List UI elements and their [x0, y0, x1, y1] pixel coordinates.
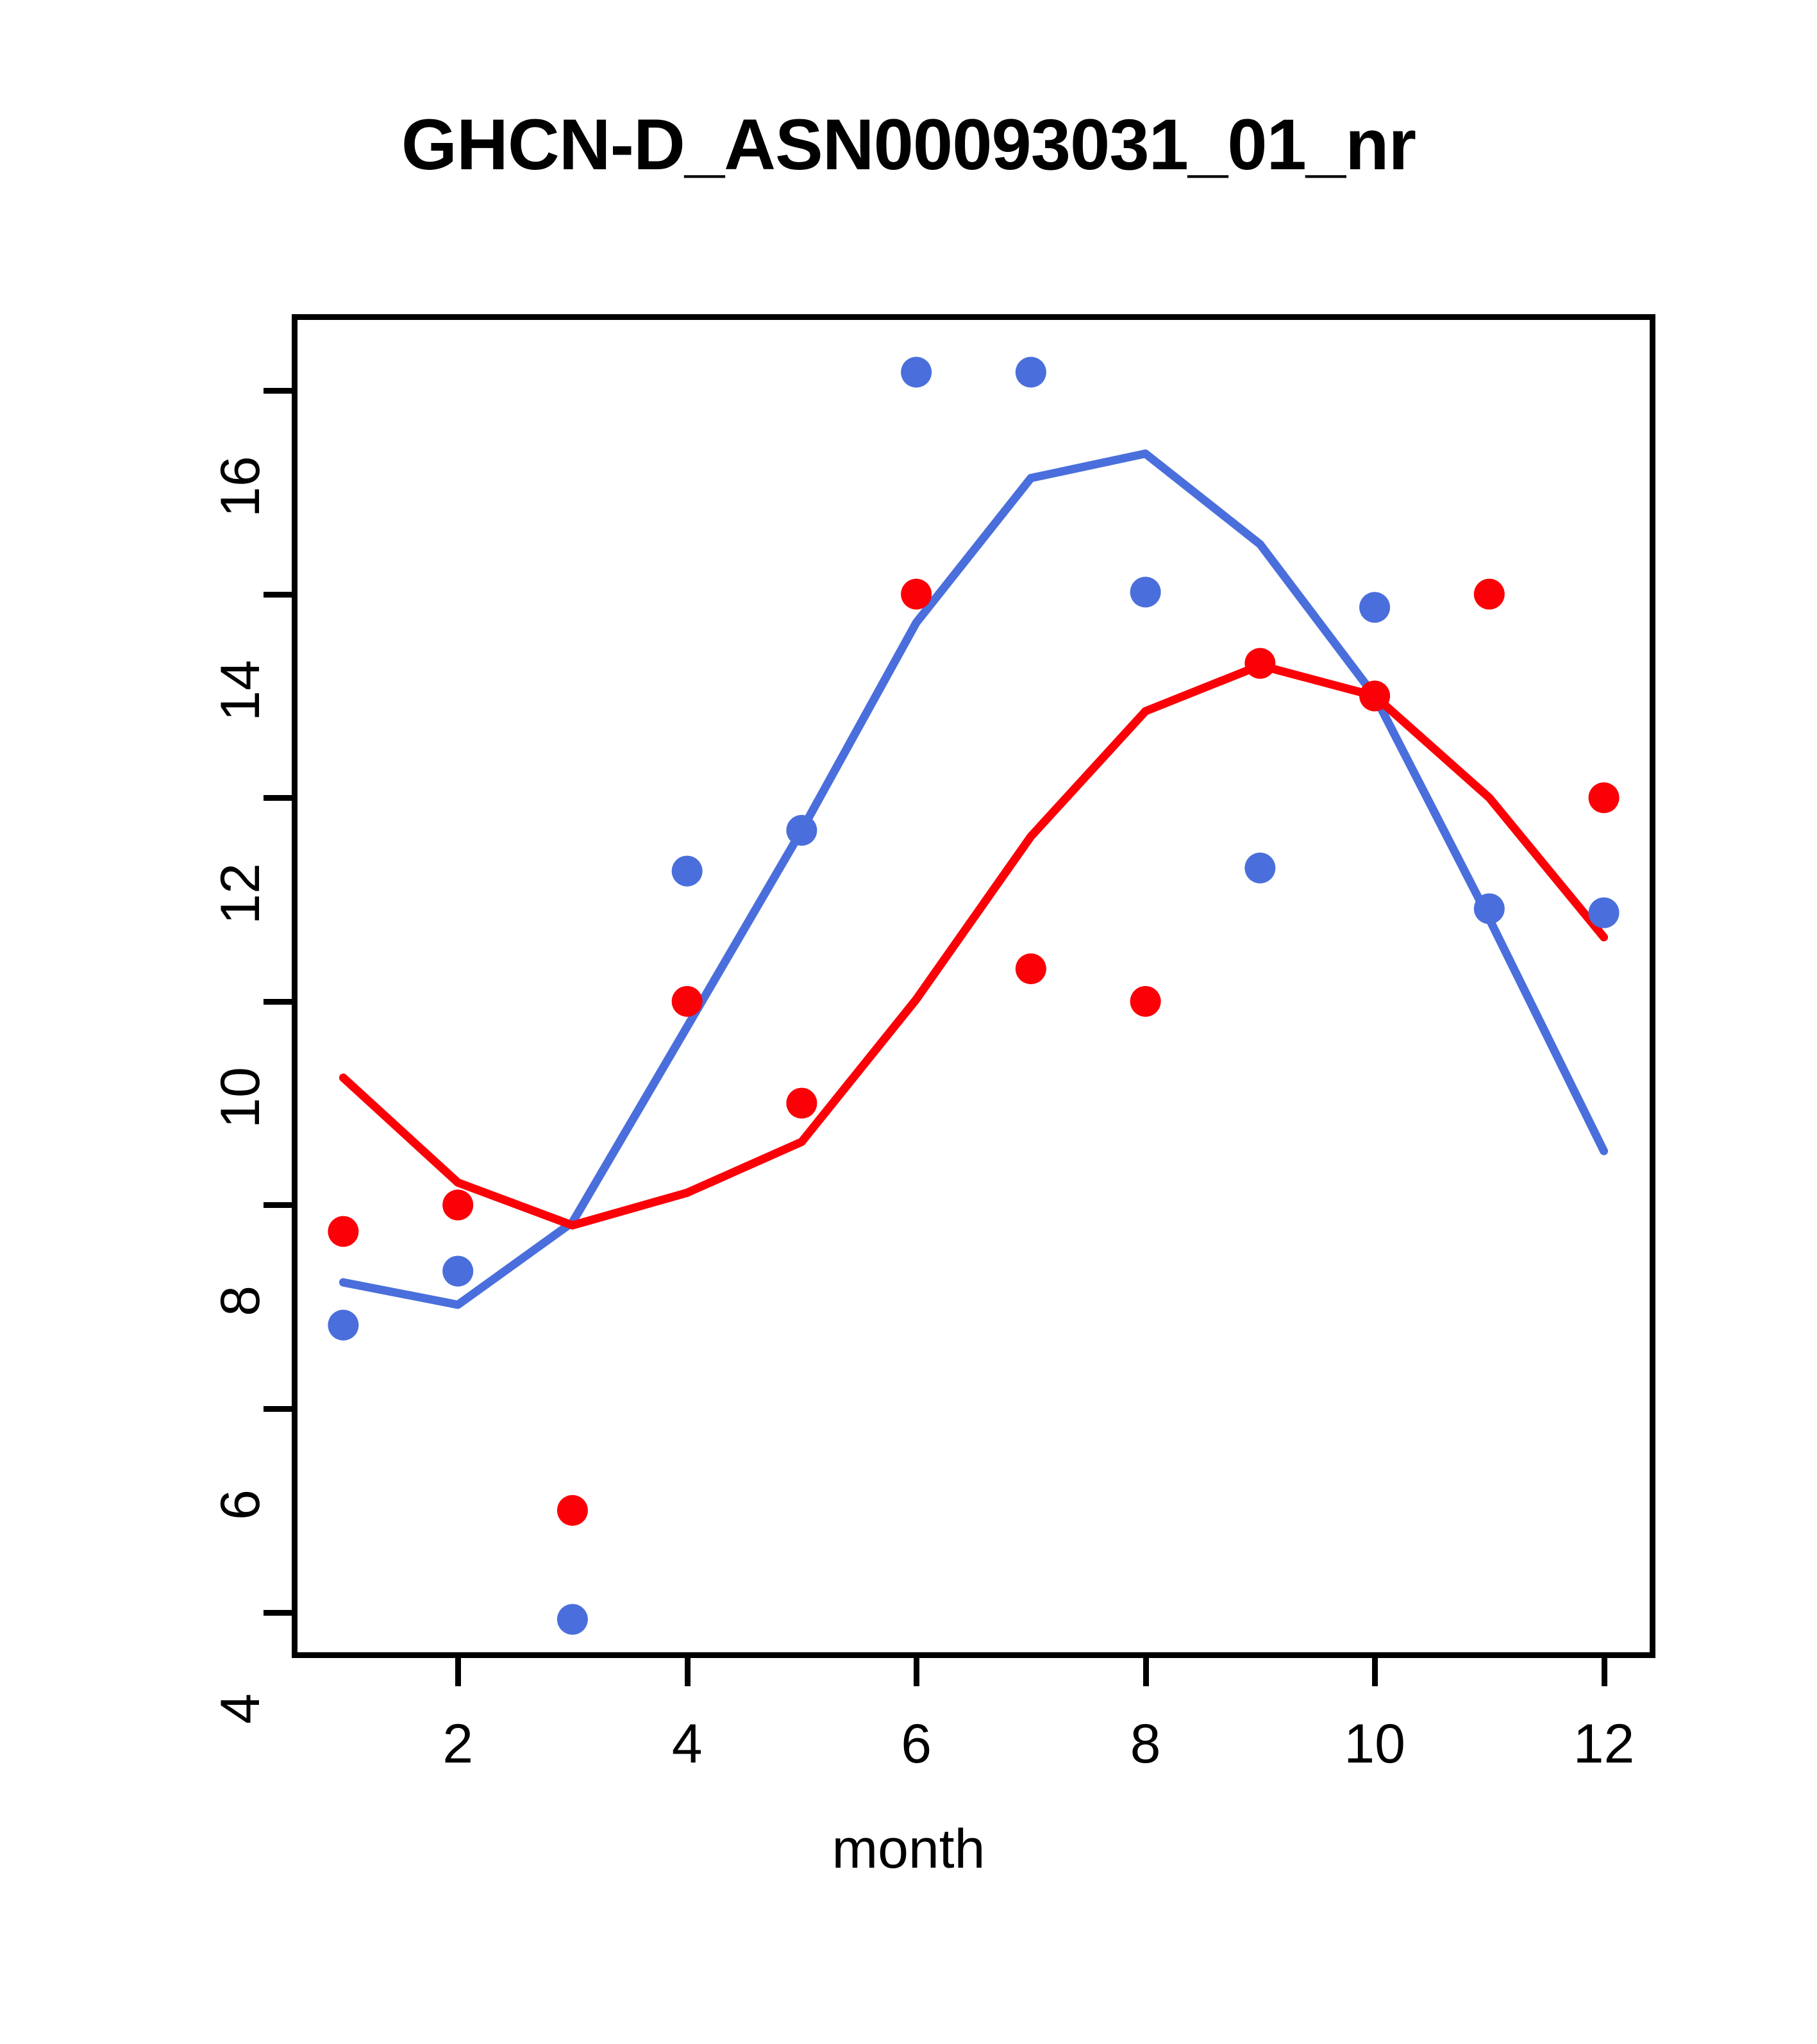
x-tick-label: 6 — [833, 1712, 1000, 1776]
y-tick-label: 10 — [208, 1001, 272, 1194]
data-point — [786, 815, 817, 846]
data-point — [672, 986, 703, 1017]
x-tick-mark — [914, 1658, 919, 1686]
data-point — [1244, 853, 1275, 884]
data-point — [901, 357, 932, 388]
data-point — [557, 1604, 588, 1635]
data-point — [1130, 986, 1161, 1017]
x-tick-label: 10 — [1291, 1712, 1458, 1776]
x-tick-mark — [1372, 1658, 1378, 1686]
data-point — [328, 1216, 358, 1247]
data-point — [328, 1310, 358, 1341]
data-point — [672, 856, 703, 887]
x-tick-mark — [1143, 1658, 1149, 1686]
data-point — [1589, 898, 1620, 928]
blue-line — [343, 454, 1603, 1305]
x-axis-title: month — [0, 1818, 1817, 1881]
figure-canvas: GHCN-D_ASN00093031_01_nr 46810121416 246… — [0, 0, 1817, 2044]
data-point — [786, 1088, 817, 1119]
x-tick-label: 12 — [1521, 1712, 1687, 1776]
red-line — [343, 666, 1603, 1225]
x-tick-label: 2 — [374, 1712, 541, 1776]
data-point — [1359, 680, 1390, 711]
data-point — [1474, 579, 1505, 610]
data-point — [1244, 648, 1275, 679]
y-tick-label: 12 — [208, 798, 272, 990]
x-tick-label: 4 — [604, 1712, 771, 1776]
data-point — [442, 1256, 473, 1287]
y-tick-label: 8 — [208, 1205, 272, 1397]
data-point — [1016, 953, 1046, 984]
x-tick-mark — [455, 1658, 461, 1686]
data-point — [442, 1189, 473, 1220]
x-tick-mark — [685, 1658, 691, 1686]
y-tick-label: 14 — [208, 594, 272, 787]
data-point — [1474, 893, 1505, 924]
x-tick-mark — [1602, 1658, 1607, 1686]
y-tick-label: 16 — [208, 390, 272, 583]
data-point — [901, 579, 932, 610]
x-tick-label: 8 — [1062, 1712, 1229, 1776]
data-point — [1130, 576, 1161, 607]
plot-area: 46810121416 24681012 — [292, 314, 1655, 1658]
data-point — [1589, 782, 1620, 813]
data-point — [557, 1495, 588, 1526]
y-tick-label: 4 — [208, 1613, 272, 1805]
y-tick-label: 6 — [208, 1409, 272, 1601]
data-point — [1016, 357, 1046, 388]
chart-svg — [292, 314, 1655, 1658]
page-title: GHCN-D_ASN00093031_01_nr — [0, 109, 1817, 181]
data-point — [1359, 592, 1390, 623]
